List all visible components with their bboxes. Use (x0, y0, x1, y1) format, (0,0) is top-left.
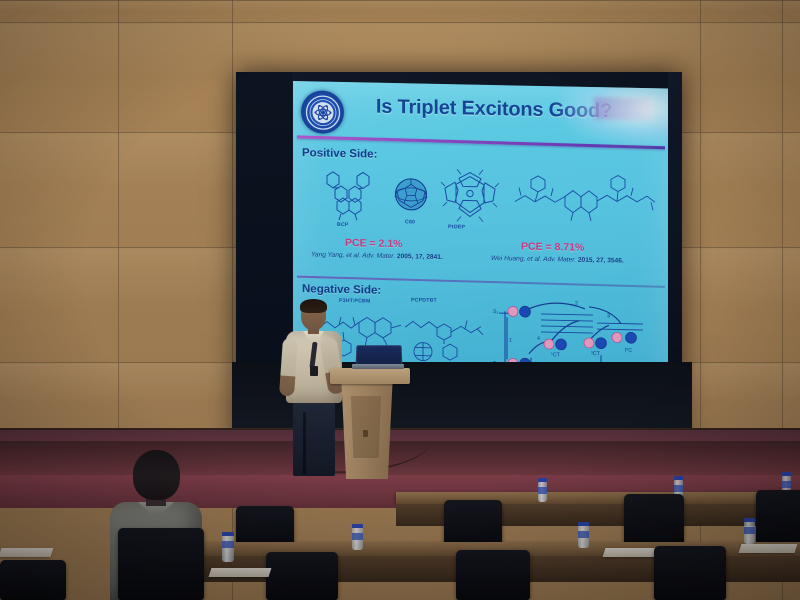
chair (456, 550, 530, 600)
molecule-label-bcp: BCP (337, 222, 349, 228)
molecule-ptoep (439, 168, 501, 227)
conference-photo-scene: Is Triplet Excitons Good? Positive Side: (0, 0, 800, 600)
citation-right-rest: 2015, 27, 3546. (578, 257, 624, 265)
presenter-trousers (293, 400, 335, 476)
citation-left-rest: 2005, 17, 2841. (397, 253, 443, 261)
citation-right-journal: Adv. Mater. (543, 256, 576, 264)
molecule-label-c60: C60 (405, 219, 415, 225)
water-bottle (578, 522, 589, 548)
molecule-label-ptoep: PtOEP (448, 224, 465, 230)
water-bottle (538, 478, 547, 502)
presenter-badge (310, 366, 318, 376)
podium-front-panel (348, 396, 384, 458)
presenter-leg-gap (303, 412, 306, 474)
lectern-podium (330, 368, 410, 478)
presenter-hair (300, 299, 327, 313)
svg-text:³CT: ³CT (591, 351, 601, 357)
handout-paper (739, 544, 798, 553)
svg-text:S₁: S₁ (493, 309, 499, 315)
chair (654, 546, 726, 600)
citation-left-journal: Adv. Mater. (362, 252, 395, 260)
molecule-label-pcpdtbt: PCPDTBT (411, 297, 437, 304)
molecule-c60 (393, 175, 429, 216)
citation-right-authors: Wei Huang, et al. (491, 255, 541, 263)
svg-text:1: 1 (509, 337, 512, 343)
citation-left-authors: Yang Yang, et al. (311, 251, 361, 259)
water-bottle (222, 532, 234, 562)
university-seal-logo (301, 90, 344, 134)
pce-value-left: PCE = 2.1% (345, 237, 403, 250)
handout-paper (209, 568, 272, 577)
laptop-keyboard-base (352, 364, 404, 369)
water-bottle (744, 518, 755, 544)
handout-paper (0, 548, 53, 557)
pce-value-right: PCE = 8.71% (521, 241, 584, 254)
chair (0, 560, 66, 600)
attendee-head (133, 450, 180, 500)
molecule-polymer-donor (511, 167, 659, 230)
screen-glare-streak (594, 97, 652, 120)
svg-text:¹CT: ¹CT (551, 352, 561, 358)
svg-text:FC: FC (625, 348, 632, 354)
podium-knob (363, 430, 368, 437)
molecule-bcp (319, 170, 377, 225)
podium-surface (330, 368, 410, 384)
svg-text:3: 3 (607, 313, 610, 319)
citation-left: Yang Yang, et al. Adv. Mater. 2005, 17, … (311, 251, 443, 261)
positive-side-label: Positive Side: (302, 147, 377, 161)
citation-right: Wei Huang, et al. Adv. Mater. 2015, 27, … (491, 255, 624, 265)
water-bottle (352, 524, 363, 550)
presenter-laptop (352, 345, 404, 369)
chair (756, 490, 800, 548)
negative-side-label: Negative Side: (302, 283, 381, 297)
svg-text:2: 2 (575, 301, 578, 307)
svg-text:4: 4 (537, 336, 540, 342)
chair (266, 552, 338, 600)
chair (118, 528, 204, 600)
